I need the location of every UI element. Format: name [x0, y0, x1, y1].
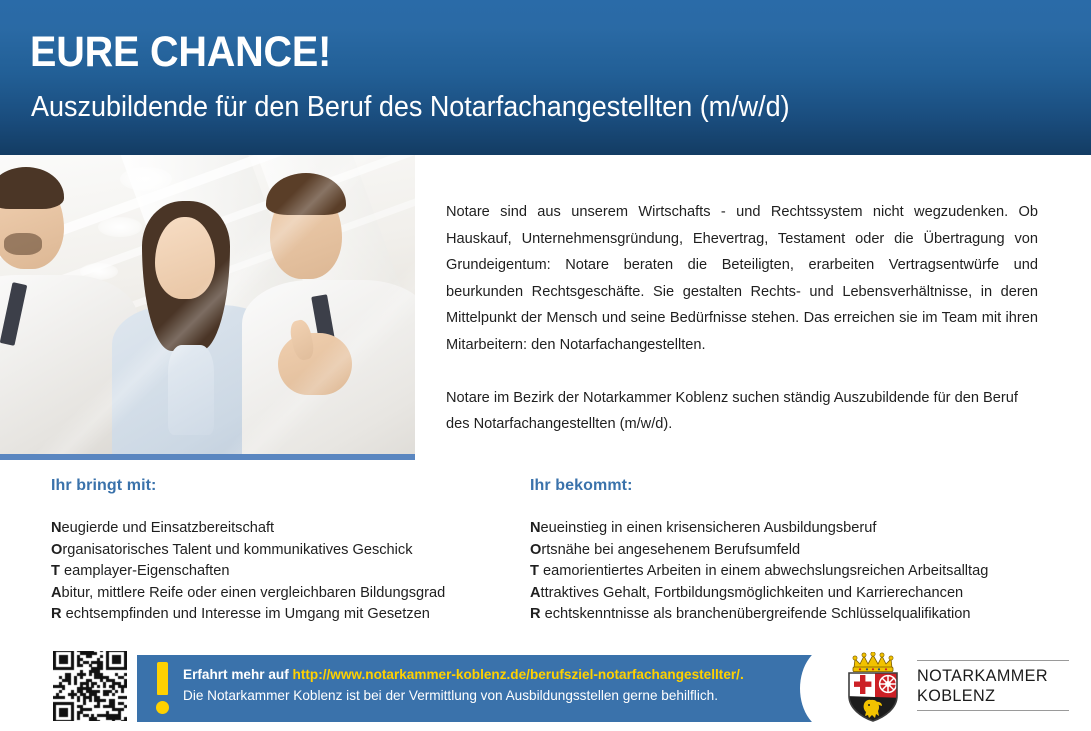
list-item-text: ttraktives Gehalt, Fortbildungsmöglichke… [541, 585, 964, 601]
list-item: Neueinstieg in einen krisensicheren Ausb… [530, 518, 1050, 540]
acronym-initial: O [530, 542, 541, 558]
acronym-initial: N [51, 520, 62, 536]
acronym-initial: O [51, 542, 62, 558]
list-item: Organisatorisches Talent und kommunikati… [51, 540, 511, 562]
photo-ceiling-light [98, 217, 142, 237]
logo-name-line2: KOBLENZ [917, 686, 1077, 706]
acronym-initial: R [530, 606, 541, 622]
header-banner: EURE CHANCE! Auszubildende für den Beruf… [0, 0, 1091, 155]
notarkammer-koblenz-logo: NOTARKAMMER KOBLENZ [843, 652, 1083, 722]
logo-name: NOTARKAMMER KOBLENZ [917, 661, 1077, 710]
benefits-list: Neueinstieg in einen krisensicheren Ausb… [530, 518, 1050, 626]
list-item-text: eugierde und Einsatzbereitschaft [62, 520, 275, 536]
cta-link[interactable]: http://www.notarkammer-koblenz.de/berufs… [293, 667, 744, 682]
acronym-initial: A [530, 585, 541, 601]
list-item: Ortsnähe bei angesehenem Berufsumfeld [530, 540, 1050, 562]
intro-paragraph-2: Notare im Bezirk der Notarkammer Koblenz… [446, 385, 1038, 438]
requirements-heading: Ihr bringt mit: [51, 478, 511, 494]
list-item-text: rtsnähe bei angesehenem Berufsumfeld [541, 542, 800, 558]
list-item: R echtsempfinden und Interesse im Umgang… [51, 604, 511, 626]
acronym-initial: A [51, 585, 62, 601]
acronym-initial: R [51, 606, 62, 622]
list-item-text: echtskenntnisse als branchenübergreifend… [541, 606, 971, 622]
photo-accent-underline [0, 454, 415, 460]
acronym-initial: T [51, 563, 60, 579]
rhineland-palatinate-coat-of-arms-icon [843, 652, 909, 722]
list-item: T eamplayer-Eigenschaften [51, 561, 511, 583]
list-item: R echtskenntnisse als branchenübergreife… [530, 604, 1050, 626]
intro-paragraph-1: Notare sind aus unserem Wirtschafts - un… [446, 199, 1038, 359]
list-item-text: rganisatorisches Talent und kommunikativ… [62, 542, 412, 558]
list-item: Attraktives Gehalt, Fortbildungsmöglichk… [530, 583, 1050, 605]
requirements-column: Ihr bringt mit: Neugierde und Einsatzber… [51, 478, 511, 626]
list-item: Abitur, mittlere Reife oder einen vergle… [51, 583, 511, 605]
logo-text-block: NOTARKAMMER KOBLENZ [917, 660, 1077, 711]
cta-prefix: Erfahrt mehr auf [183, 667, 293, 682]
cta-headline: Erfahrt mehr auf http://www.notarkammer-… [183, 664, 823, 685]
exclamation-mark-icon [156, 662, 169, 714]
cta-text-block: Erfahrt mehr auf http://www.notarkammer-… [183, 664, 823, 706]
page-subtitle: Auszubildende für den Beruf des Notarfac… [31, 93, 790, 122]
qr-code-icon[interactable] [53, 651, 127, 721]
photo-ceiling-light [120, 167, 172, 191]
intro-text: Notare sind aus unserem Wirtschafts - un… [446, 199, 1038, 438]
list-item: T eamorientiertes Arbeiten in einem abwe… [530, 561, 1050, 583]
list-item: Neugierde und Einsatzbereitschaft [51, 518, 511, 540]
photo-scene [0, 155, 415, 460]
page-title: EURE CHANCE! [30, 31, 331, 74]
logo-divider-bottom [917, 710, 1069, 711]
list-item-text: bitur, mittlere Reife oder einen verglei… [62, 585, 446, 601]
acronym-initial: N [530, 520, 541, 536]
list-item-text: eamorientiertes Arbeiten in einem abwech… [539, 563, 988, 579]
list-item-text: echtsempfinden und Interesse im Umgang m… [62, 606, 430, 622]
acronym-initial: T [530, 563, 539, 579]
cta-subline: Die Notarkammer Koblenz ist bei der Verm… [183, 685, 823, 706]
team-photo [0, 155, 415, 460]
list-item-text: eamplayer-Eigenschaften [60, 563, 230, 579]
benefits-column: Ihr bekommt: Neueinstieg in einen krisen… [530, 478, 1050, 626]
requirements-list: Neugierde und Einsatzbereitschaft Organi… [51, 518, 511, 626]
benefits-heading: Ihr bekommt: [530, 478, 1050, 494]
list-item-text: eueinstieg in einen krisensicheren Ausbi… [541, 520, 877, 536]
logo-name-line1: NOTARKAMMER [917, 666, 1077, 686]
